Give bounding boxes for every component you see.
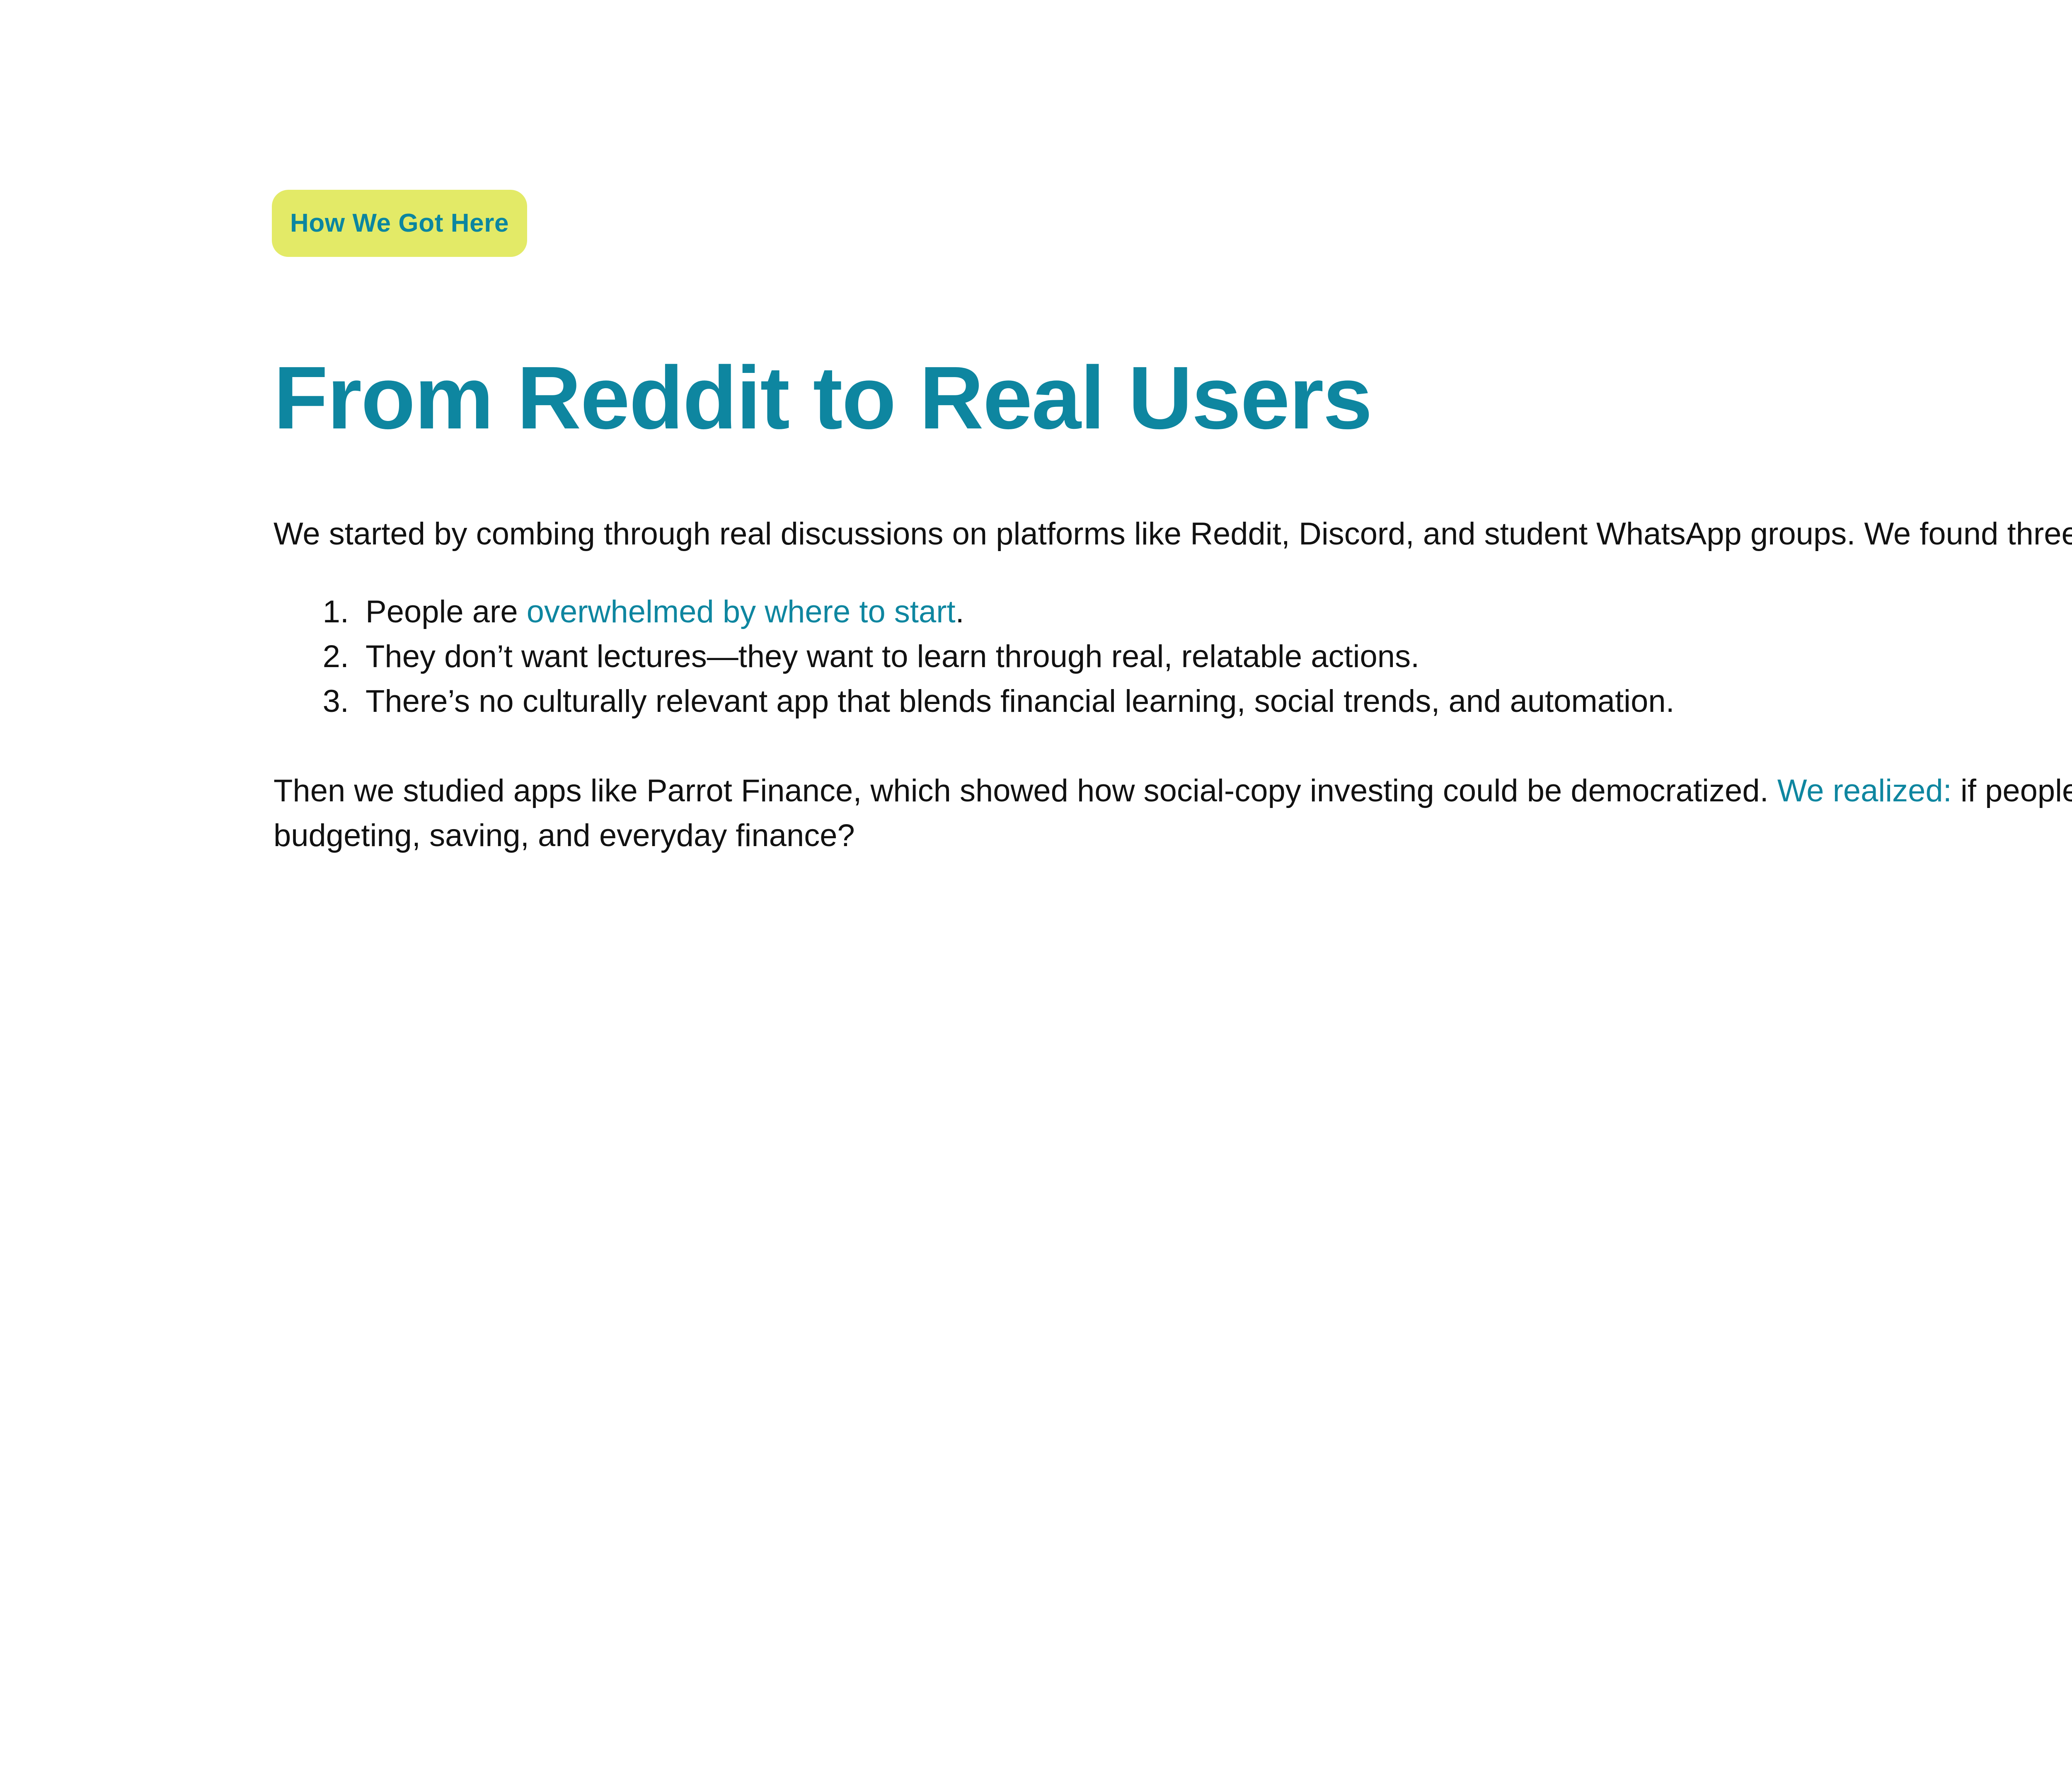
slide-body: We started by combing through real discu…	[274, 512, 2072, 858]
slide-canvas: How We Got Here From Reddit to Real User…	[0, 0, 2072, 1790]
eyebrow-badge: How We Got Here	[272, 190, 527, 257]
list-item: 2.They don’t want lectures—they want to …	[274, 634, 2072, 679]
list-item-lead: There’s no culturally relevant app that …	[366, 684, 1675, 719]
list-item-lead: They don’t want lectures—they want to le…	[366, 639, 1419, 674]
eyebrow-badge-label: How We Got Here	[290, 210, 509, 236]
themes-list: 1.People are overwhelmed by where to sta…	[274, 590, 2072, 724]
closing-paragraph: Then we studied apps like Parrot Finance…	[274, 769, 2072, 858]
list-item: 1.People are overwhelmed by where to sta…	[274, 590, 2072, 634]
spacer-after-list	[274, 724, 2072, 769]
list-item-marker: 1.	[295, 590, 349, 634]
list-item: 3.There’s no culturally relevant app tha…	[274, 679, 2072, 724]
list-item-marker: 2.	[295, 634, 349, 679]
spacer-intro	[274, 556, 2072, 590]
list-item-lead: People are	[366, 594, 527, 629]
list-item-accent: overwhelmed by where to start	[527, 594, 956, 629]
list-item-marker: 3.	[295, 679, 349, 724]
closing-lead: Then we studied apps like Parrot Finance…	[274, 773, 1777, 808]
closing-accent: We realized:	[1777, 773, 1952, 808]
page-title: From Reddit to Real Users	[274, 350, 1372, 446]
list-item-tail: .	[956, 594, 964, 629]
intro-paragraph: We started by combing through real discu…	[274, 512, 2072, 556]
